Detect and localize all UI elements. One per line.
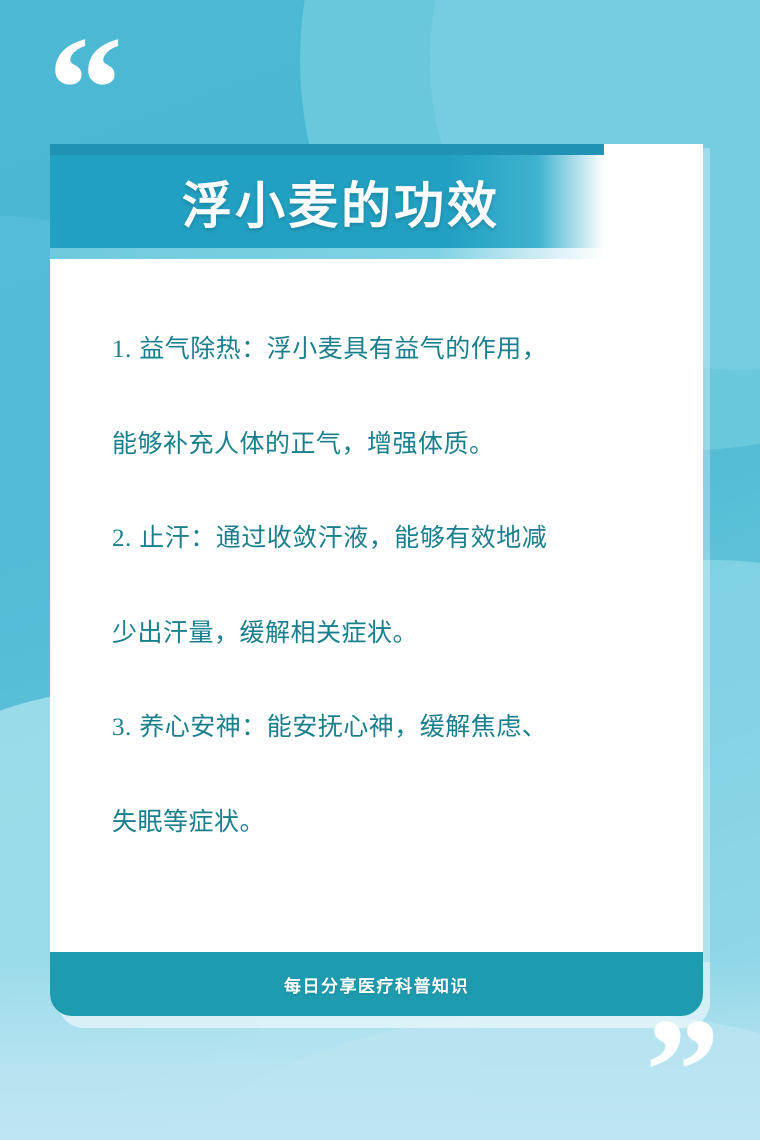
paragraph-3-line-1-text: 养心安神：能安抚心神，缓解焦虑、 xyxy=(139,713,547,741)
title-band-top-strip xyxy=(50,144,604,155)
footer-bar: 每日分享医疗科普知识 xyxy=(50,952,703,1016)
quote-open-icon: “ xyxy=(48,14,123,164)
body-content: 1. 益气除热：浮小麦具有益气的作用， 能够补充人体的正气，增强体质。 2. 止… xyxy=(50,276,703,869)
footer-note: 每日分享医疗科普知识 xyxy=(284,972,469,997)
title-band: 浮小麦的功效 xyxy=(50,155,604,248)
paragraph-1-line-1-text: 益气除热：浮小麦具有益气的作用， xyxy=(139,335,547,363)
paragraph-3-line-2: 失眠等症状。 xyxy=(112,775,645,869)
paragraph-2-line-2: 少出汗量，缓解相关症状。 xyxy=(112,586,645,680)
title-band-bottom-strip xyxy=(50,248,604,259)
paragraph-1-number: 1. xyxy=(112,336,132,363)
paragraph-1-line-2: 能够补充人体的正气，增强体质。 xyxy=(112,397,645,491)
content-card: 浮小麦的功效 1. 益气除热：浮小麦具有益气的作用， 能够补充人体的正气，增强体… xyxy=(50,144,703,1016)
paragraph-1-line-1: 1. 益气除热：浮小麦具有益气的作用， xyxy=(112,302,645,397)
paragraph-3-line-1: 3. 养心安神：能安抚心神，缓解焦虑、 xyxy=(112,680,645,775)
paragraph-3-number: 3. xyxy=(112,714,132,741)
quote-close-icon: ” xyxy=(645,996,720,1140)
paragraph-2-line-1-text: 止汗：通过收敛汗液，能够有效地减 xyxy=(139,524,547,552)
page-title: 浮小麦的功效 xyxy=(154,166,500,238)
paragraph-2-number: 2. xyxy=(112,525,132,552)
poster-root: “ 浮小麦的功效 1. 益气除热：浮小麦具有益气的作用， 能够补充人体的正气，增… xyxy=(0,0,760,1140)
paragraph-2-line-1: 2. 止汗：通过收敛汗液，能够有效地减 xyxy=(112,491,645,586)
